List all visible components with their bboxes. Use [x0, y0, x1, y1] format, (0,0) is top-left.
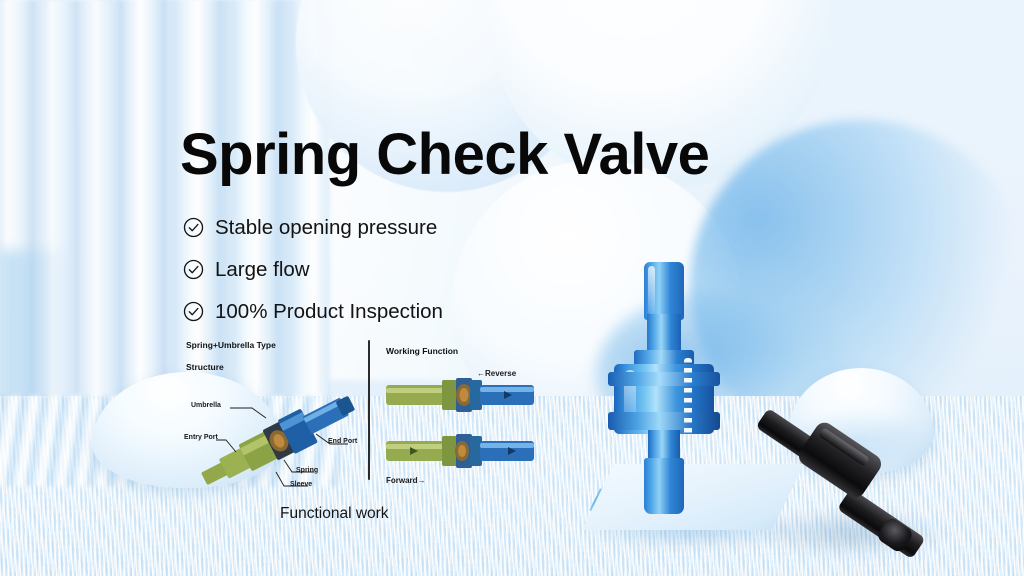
- feature-label: Stable opening pressure: [215, 216, 437, 240]
- blue-valve-flange-lower: [608, 412, 720, 430]
- structure-heading-line2: Structure: [186, 362, 224, 372]
- feature-list: Stable opening pressure Large flow 100% …: [183, 210, 443, 336]
- flow-label-reverse: ←Reverse: [477, 369, 516, 378]
- flow-label-forward: Forward→: [386, 476, 426, 485]
- functional-work-caption: Functional work: [280, 505, 389, 523]
- working-function-heading: Working Function: [386, 346, 458, 356]
- product-banner: Spring Check Valve Stable opening pressu…: [0, 0, 1024, 576]
- valve-forward-illustration: [380, 424, 540, 480]
- feature-label: 100% Product Inspection: [215, 300, 443, 324]
- blue-valve-upper-neck: [647, 314, 681, 354]
- check-circle-icon: [183, 259, 204, 280]
- feature-item-1: Large flow: [183, 252, 443, 287]
- callout-label-end-port: End Port: [328, 438, 357, 445]
- structure-heading-line1: Spring+Umbrella Type: [186, 340, 276, 350]
- blue-valve-top-barb: [644, 262, 684, 320]
- feature-item-2: 100% Product Inspection: [183, 294, 443, 329]
- callout-label-entry-port: Entry Port: [184, 434, 218, 441]
- blue-check-valve: [608, 262, 720, 514]
- check-circle-icon: [183, 301, 204, 322]
- blue-valve-bottom-barb: [644, 458, 684, 514]
- blue-valve-highlight-dots: [684, 358, 692, 436]
- callout-label-sleeve: Sleeve: [290, 481, 312, 488]
- page-title: Spring Check Valve: [180, 125, 709, 186]
- feature-item-0: Stable opening pressure: [183, 210, 443, 245]
- blue-valve-flange-upper: [608, 372, 720, 386]
- callout-label-umbrella: Umbrella: [191, 402, 221, 409]
- black-check-valve: [760, 398, 930, 560]
- callout-label-spring: Spring: [296, 467, 318, 474]
- check-circle-icon: [183, 217, 204, 238]
- feature-label: Large flow: [215, 258, 310, 282]
- black-valve-body: [795, 419, 885, 501]
